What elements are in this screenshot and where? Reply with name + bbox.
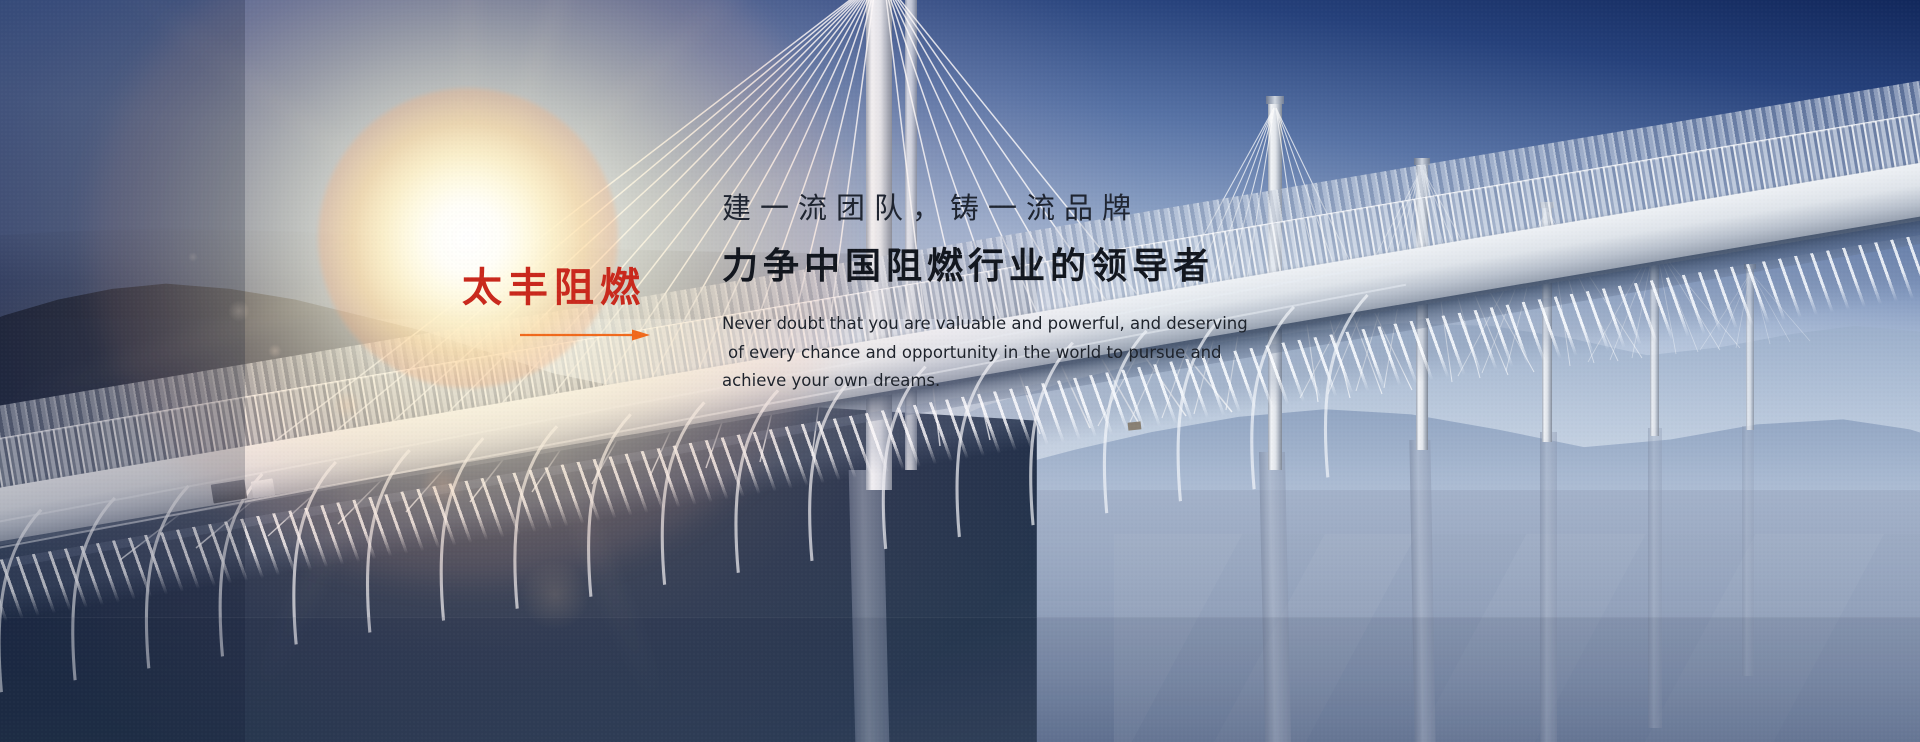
description-line: of every chance and opportunity in the w…: [722, 339, 1322, 367]
arrow-right-icon: [520, 328, 650, 342]
headline-title: 力争中国阻燃行业的领导者: [722, 245, 1382, 288]
brand-logo-text: 太丰阻燃: [462, 268, 692, 308]
headline-subtitle: 建一流团队，铸一流品牌: [722, 190, 1382, 226]
banner-content: 太丰阻燃 建一流团队，铸一流品牌 力争中国阻燃行业的领导者 Never doub…: [0, 0, 1920, 742]
description-line: Never doubt that you are valuable and po…: [722, 310, 1322, 338]
banner-description: Never doubt that you are valuable and po…: [722, 310, 1322, 395]
hero-banner: 太丰阻燃 建一流团队，铸一流品牌 力争中国阻燃行业的领导者 Never doub…: [0, 0, 1920, 742]
banner-copy: 建一流团队，铸一流品牌 力争中国阻燃行业的领导者 Never doubt tha…: [722, 190, 1382, 396]
brand-logo[interactable]: 太丰阻燃: [462, 268, 692, 342]
description-line: achieve your own dreams.: [722, 367, 1322, 395]
